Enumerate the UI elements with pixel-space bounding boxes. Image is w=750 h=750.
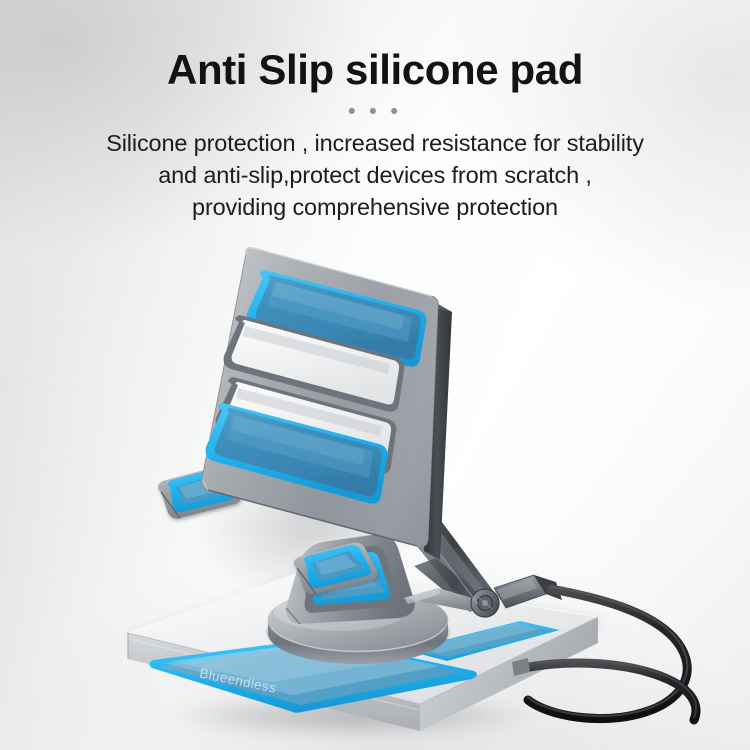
subtitle-text: Silicone protection , increased resistan… [0, 127, 750, 224]
subtitle-line-1: Silicone protection , increased resistan… [0, 127, 750, 159]
subtitle-line-3: providing comprehensive protection [0, 191, 750, 223]
back-panel [202, 248, 452, 560]
page-title: Anti Slip silicone pad [0, 48, 750, 93]
subtitle-line-2: and anti-slip,protect devices from scrat… [0, 159, 750, 191]
marketing-text-block: Anti Slip silicone pad • • • Silicone pr… [0, 48, 750, 224]
ellipsis-divider: • • • [0, 101, 750, 121]
